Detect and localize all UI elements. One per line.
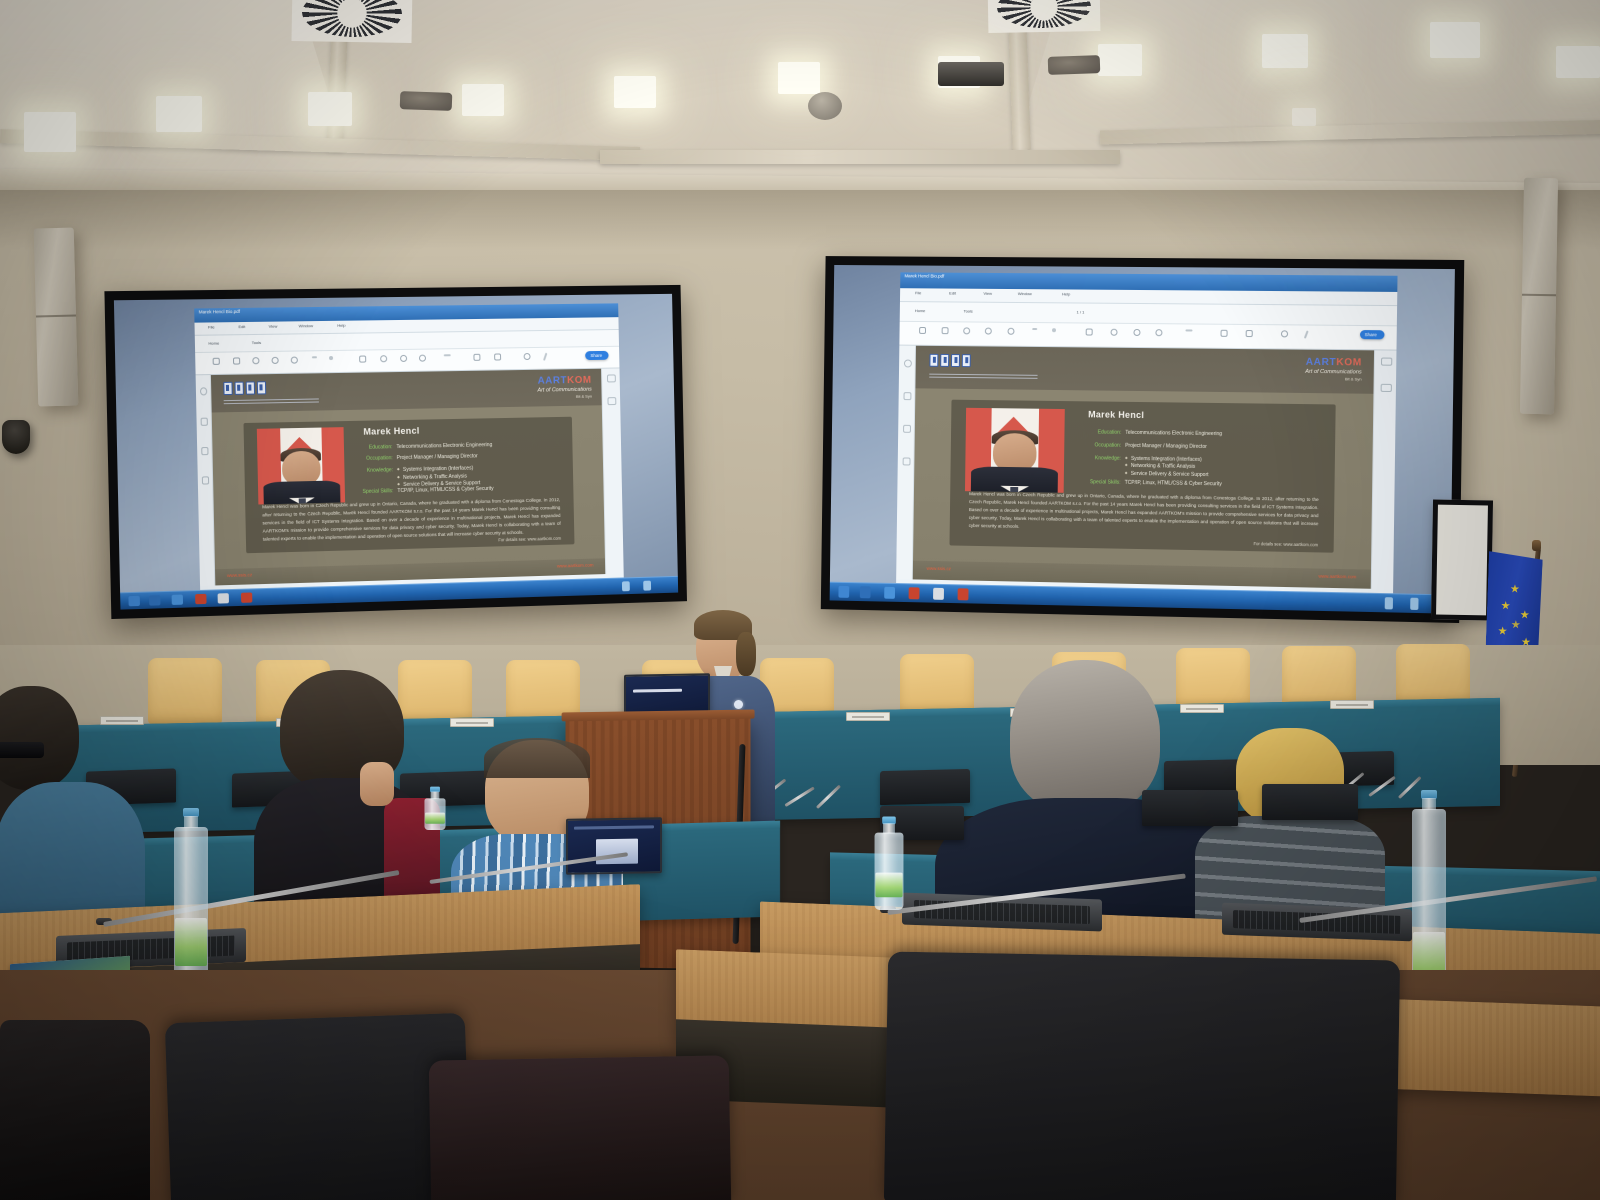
taskbar-icon[interactable] <box>933 588 944 600</box>
brand-part-b: KOM <box>567 375 592 386</box>
zoom-in-icon[interactable] <box>1007 328 1014 335</box>
tab-tools[interactable]: Tools <box>964 308 973 313</box>
lecture-hall-photo: Marek Hencl Bio.pdf File Edit View Windo… <box>0 0 1600 1200</box>
page-indicator: 1 / 1 <box>1077 309 1085 314</box>
slide-header: AARTKOM Art of Communications Bit & Syn <box>211 369 602 413</box>
taskbar-icon[interactable] <box>149 595 161 606</box>
left-projection-screen: Marek Hencl Bio.pdf File Edit View Windo… <box>104 285 687 619</box>
layers-icon[interactable] <box>202 476 209 484</box>
ceiling-light <box>1262 34 1308 68</box>
footer-url-right: www.aartkom.com <box>557 563 594 569</box>
water-bottle <box>424 787 445 830</box>
institution-subtitle <box>223 398 318 404</box>
field-education: Education: Telecommunications Electronic… <box>344 441 562 452</box>
ceiling-vent-right <box>988 0 1101 33</box>
brand-part-b: KOM <box>1336 357 1362 368</box>
field-label: Special Skills: <box>345 489 394 496</box>
more-info-text: For details see: www.aartkom.com <box>1253 541 1318 547</box>
tray-icon[interactable] <box>1385 597 1393 609</box>
field-knowledge: Knowledge: Systems Integration (Interfac… <box>1064 455 1323 482</box>
brand-tagline: Art of Communications <box>537 387 591 394</box>
print-icon[interactable] <box>213 358 220 365</box>
presenter-ponytail <box>736 632 756 676</box>
taskbar-icon[interactable] <box>884 587 895 599</box>
app-title: Marek Hencl Bio.pdf <box>905 272 945 279</box>
ceiling-beam-4 <box>600 150 1120 164</box>
eyeglasses-icon <box>0 742 44 758</box>
wall-top-shadow <box>0 190 1600 250</box>
eu-star <box>1501 601 1510 610</box>
water-bottle <box>174 808 208 992</box>
nameplate <box>450 718 494 727</box>
audience-member <box>0 686 140 936</box>
field-label: Special Skills: <box>1064 479 1120 486</box>
ceiling-light <box>462 84 504 116</box>
thumbnails-icon[interactable] <box>904 360 912 368</box>
brand-tagline: Art of Communications <box>1305 369 1362 376</box>
field-label: Education: <box>1065 429 1121 436</box>
aartkom-brand: AARTKOM Art of Communications Bit & Syn <box>1305 357 1362 376</box>
audience-hair <box>484 738 590 778</box>
wall-speaker-right <box>1520 178 1558 415</box>
foreground-person-silhouette <box>0 1020 150 1200</box>
field-value: TCP/IP, Linux, HTML/CSS & Cyber Security <box>397 486 493 494</box>
separator-icon <box>444 354 451 356</box>
start-button[interactable] <box>839 586 850 598</box>
pen-icon[interactable] <box>543 353 547 361</box>
export-pdf-icon[interactable] <box>607 374 616 382</box>
taskbar-icon[interactable] <box>172 594 183 605</box>
pen-icon[interactable] <box>1304 330 1309 338</box>
knowledge-list: Systems Integration (Interfaces) Network… <box>1125 455 1209 479</box>
ceiling-light <box>308 92 352 126</box>
footer-url-right: www.aartkom.com <box>1318 574 1356 580</box>
tab-home[interactable]: Home <box>915 308 926 313</box>
dais-chair <box>1282 646 1356 708</box>
pdf-viewer-window[interactable]: Marek Hencl Bio.pdf File Edit View Windo… <box>896 272 1397 602</box>
ceiling-light <box>614 76 656 108</box>
ceiling-speaker-left <box>400 91 453 111</box>
tray-volume-icon[interactable] <box>1410 598 1418 610</box>
stamp-icon[interactable] <box>524 353 531 360</box>
attachments-icon[interactable] <box>201 447 208 455</box>
page-field[interactable] <box>1032 328 1037 330</box>
menu-help[interactable]: Help <box>337 323 345 328</box>
ceiling-speaker-right <box>1048 55 1101 75</box>
eu-star <box>1511 620 1520 629</box>
nameplate <box>846 712 890 721</box>
taskbar-icon[interactable] <box>957 588 968 600</box>
wall-speaker-left <box>34 228 79 407</box>
portrait-photo <box>965 407 1065 493</box>
separator-icon <box>1185 329 1192 331</box>
list-item: Networking & Traffic Analysis <box>397 473 480 481</box>
field-value: TCP/IP, Linux, HTML/CSS & Cyber Security <box>1125 480 1222 488</box>
slide-card: Marek Hencl Education: Telecommunication… <box>244 417 574 554</box>
cursor-icon[interactable] <box>359 355 366 362</box>
taskbar-icon[interactable] <box>860 586 871 598</box>
institution-block-logo <box>223 381 266 395</box>
bio-line: at schools. <box>502 530 524 536</box>
portrait-photo <box>257 427 345 504</box>
tab-home[interactable]: Home <box>208 340 219 345</box>
list-item: Systems Integration (Interfaces) <box>397 465 480 473</box>
edit-pdf-icon[interactable] <box>1380 384 1391 392</box>
menu-help[interactable]: Help <box>1062 291 1070 296</box>
pdf-viewer-window[interactable]: Marek Hencl Bio.pdf File Edit View Windo… <box>195 303 624 597</box>
aartkom-brand: AARTKOM Art of Communications Bit & Syn <box>537 375 592 394</box>
bio-line: at schools. <box>998 524 1020 529</box>
envelope-icon[interactable] <box>941 327 948 334</box>
eu-star <box>1510 584 1519 593</box>
footer-url-left: www.ssis.cz <box>927 566 951 571</box>
ceiling-light <box>1098 44 1142 76</box>
footer-url-left: www.ssis.cz <box>227 572 252 578</box>
field-value: Telecommunications Electronic Engineerin… <box>396 442 492 450</box>
stamp-icon[interactable] <box>1280 330 1287 337</box>
field-value: Project Manager / Managing Director <box>397 454 478 462</box>
left-screen-surface: Marek Hencl Bio.pdf File Edit View Windo… <box>114 294 678 610</box>
search-icon[interactable] <box>252 357 259 364</box>
ceiling-projector-vent <box>938 62 1004 86</box>
share-button[interactable]: Share <box>585 351 609 360</box>
zoom-out-icon[interactable] <box>985 328 992 335</box>
filter-icon[interactable] <box>494 353 501 360</box>
eu-star <box>1498 626 1507 635</box>
chevron-down-icon[interactable] <box>329 356 333 360</box>
brand-signature: Bit & Syn <box>576 394 592 399</box>
list-item: Service Delivery & Service Support <box>1125 470 1209 477</box>
ceiling-light <box>778 62 820 94</box>
dais-chair <box>1396 644 1470 706</box>
menu-file[interactable]: File <box>915 290 921 295</box>
flag-finial <box>1532 540 1541 551</box>
field-label: Knowledge: <box>344 467 393 491</box>
right-projection-screen: Marek Hencl Bio.pdf File Edit View Windo… <box>821 256 1464 623</box>
zoom-out-icon[interactable] <box>271 357 278 364</box>
audience-laptop-screen <box>566 817 662 875</box>
taskbar-icon-pdf[interactable] <box>908 587 919 599</box>
slide-card: Marek Hencl Education: Telecommunication… <box>949 400 1335 552</box>
field-value: Telecommunications Electronic Engineerin… <box>1125 430 1222 437</box>
thumbnails-icon[interactable] <box>200 388 207 396</box>
chevron-down-icon[interactable] <box>1052 328 1056 332</box>
field-value: Project Manager / Managing Director <box>1125 442 1207 449</box>
foreground-chair[interactable] <box>884 952 1400 1200</box>
bio-line: he graduated with a diploma from Conesto… <box>1141 494 1311 502</box>
field-label: Education: <box>344 445 393 452</box>
audience-head-grey <box>1010 660 1160 812</box>
desk-monitor <box>1142 790 1238 826</box>
slide-content: AARTKOM Art of Communications Bit & Syn <box>211 369 605 586</box>
ceiling-dome-fixture <box>808 92 842 120</box>
foreground-chair[interactable] <box>165 1013 471 1200</box>
comment-icon[interactable] <box>400 355 407 362</box>
list-item: Networking & Traffic Analysis <box>1125 463 1209 470</box>
menu-file[interactable]: File <box>208 324 215 329</box>
menu-edit[interactable]: Edit <box>238 324 245 329</box>
page-thumbnail-icon[interactable] <box>1220 330 1227 337</box>
app-title: Marek Hencl Bio.pdf <box>199 308 240 316</box>
brand-part-a: AART <box>537 375 567 386</box>
page-thumbnail-icon[interactable] <box>473 354 480 361</box>
lapel-pin <box>734 700 743 709</box>
taskbar-icon-pdf[interactable] <box>195 594 206 605</box>
foreground-chair[interactable] <box>429 1055 732 1200</box>
export-pdf-icon[interactable] <box>1381 358 1392 366</box>
bio-line: decade of experience in multinational pr… <box>1004 508 1224 517</box>
tab-tools[interactable]: Tools <box>252 340 262 345</box>
field-label: Knowledge: <box>1064 455 1121 478</box>
field-occupation: Occupation: Project Manager / Managing D… <box>344 452 562 463</box>
dais-chair <box>148 658 222 724</box>
envelope-icon[interactable] <box>233 357 240 364</box>
wall-frame <box>1431 499 1493 620</box>
menu-window[interactable]: Window <box>1018 291 1032 296</box>
menu-window[interactable]: Window <box>299 323 313 328</box>
eu-star <box>1520 610 1529 619</box>
audience-hand <box>360 762 394 806</box>
bookmarks-icon[interactable] <box>201 417 208 425</box>
app-right-rail[interactable] <box>1370 350 1396 589</box>
ceiling-light <box>1556 46 1600 78</box>
brand-signature: Bit & Syn <box>1345 376 1362 381</box>
print-icon[interactable] <box>919 327 926 334</box>
taskbar-icon[interactable] <box>218 593 229 604</box>
hand-tool-icon[interactable] <box>380 355 387 362</box>
right-screen-surface: Marek Hencl Bio.pdf File Edit View Windo… <box>830 265 1455 614</box>
bio-line: Marek Hencl was born in Czech Republic a… <box>969 491 1139 499</box>
ceiling-vent-left <box>292 0 413 43</box>
biography-text: Marek Hencl was born in Czech Republic a… <box>969 490 1319 536</box>
ceiling-light <box>24 112 76 152</box>
nameplate <box>1330 700 1374 709</box>
search-icon[interactable] <box>963 327 970 334</box>
field-occupation: Occupation: Project Manager / Managing D… <box>1065 441 1324 451</box>
ceiling-light <box>1430 22 1480 58</box>
bookmarks-icon[interactable] <box>903 392 911 400</box>
institution-block-logo <box>929 354 970 367</box>
field-label: Occupation: <box>1065 441 1121 448</box>
page-field[interactable] <box>312 356 317 358</box>
edit-pdf-icon[interactable] <box>607 397 616 405</box>
institution-subtitle <box>929 374 1037 380</box>
person-name: Marek Hencl <box>1088 409 1144 420</box>
menu-view[interactable]: View <box>269 324 278 329</box>
hand-tool-icon[interactable] <box>1111 329 1118 336</box>
water-bottle <box>875 817 904 911</box>
filter-icon[interactable] <box>1245 330 1252 337</box>
slide-content: AARTKOM Art of Communications Bit & Syn <box>913 346 1374 589</box>
more-info-text: For details see: www.aartkom.com <box>498 536 561 543</box>
start-button[interactable] <box>129 596 141 607</box>
highlight-icon[interactable] <box>419 354 426 361</box>
tray-volume-icon[interactable] <box>643 580 651 591</box>
zoom-in-icon[interactable] <box>291 356 298 363</box>
list-item: Systems Integration (Interfaces) <box>1125 455 1209 462</box>
taskbar-icon[interactable] <box>241 592 252 603</box>
brand-part-a: AART <box>1306 357 1337 368</box>
security-camera-icon <box>2 420 30 454</box>
tray-icon[interactable] <box>622 581 630 592</box>
share-button[interactable]: Share <box>1360 331 1385 340</box>
ceiling-light <box>156 96 202 132</box>
person-name: Marek Hencl <box>363 426 419 437</box>
highlight-icon[interactable] <box>1156 329 1163 336</box>
audience-head <box>0 686 79 790</box>
menu-edit[interactable]: Edit <box>949 290 956 295</box>
layers-icon[interactable] <box>902 458 910 466</box>
ceiling-light <box>1292 108 1316 126</box>
cursor-icon[interactable] <box>1086 328 1093 335</box>
field-education: Education: Telecommunications Electronic… <box>1065 429 1324 439</box>
slide-header: AARTKOM Art of Communications Bit & Syn <box>916 346 1374 393</box>
menu-view[interactable]: View <box>983 291 992 296</box>
comment-icon[interactable] <box>1133 329 1140 336</box>
field-label: Occupation: <box>344 456 393 463</box>
audience-member <box>1200 728 1380 928</box>
attachments-icon[interactable] <box>903 425 911 433</box>
desk-monitor <box>1262 784 1358 820</box>
